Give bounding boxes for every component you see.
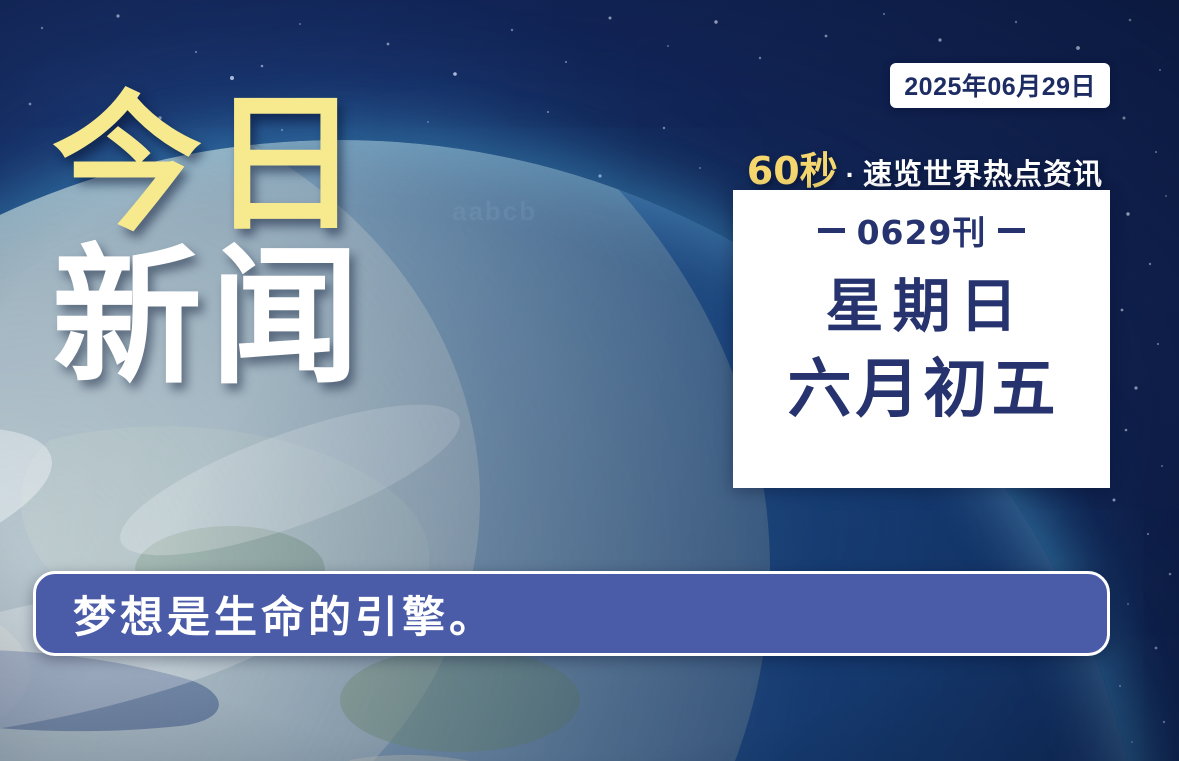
date-badge: 2025年06月29日 [890,63,1110,108]
news-poster: aabcb 今日 新闻 2025年06月29日 60秒 · 速览世界热点资讯 0… [0,0,1179,761]
tagline-seconds: 60秒 [747,140,838,195]
tagline-description: 速览世界热点资讯 [863,151,1103,193]
tagline-separator-dot: · [841,159,860,191]
issue-dash-right-icon [998,228,1025,233]
issue-dash-left-icon [818,228,845,233]
lunar-date-label: 六月初五 [784,357,1060,424]
info-card: 0629刊 星期日 六月初五 [733,190,1110,488]
quote-bar: 梦想是生命的引擎。 [33,571,1110,656]
poster-title: 今日 新闻 [52,92,368,392]
tagline: 60秒 · 速览世界热点资讯 [747,140,1103,195]
weekday-label: 星期日 [816,276,1026,337]
title-line-today: 今日 [52,92,368,239]
title-line-news: 新闻 [52,245,368,392]
issue-number: 0629刊 [857,206,987,254]
quote-text: 梦想是生命的引擎。 [73,583,496,645]
issue-row: 0629刊 [818,206,1026,254]
